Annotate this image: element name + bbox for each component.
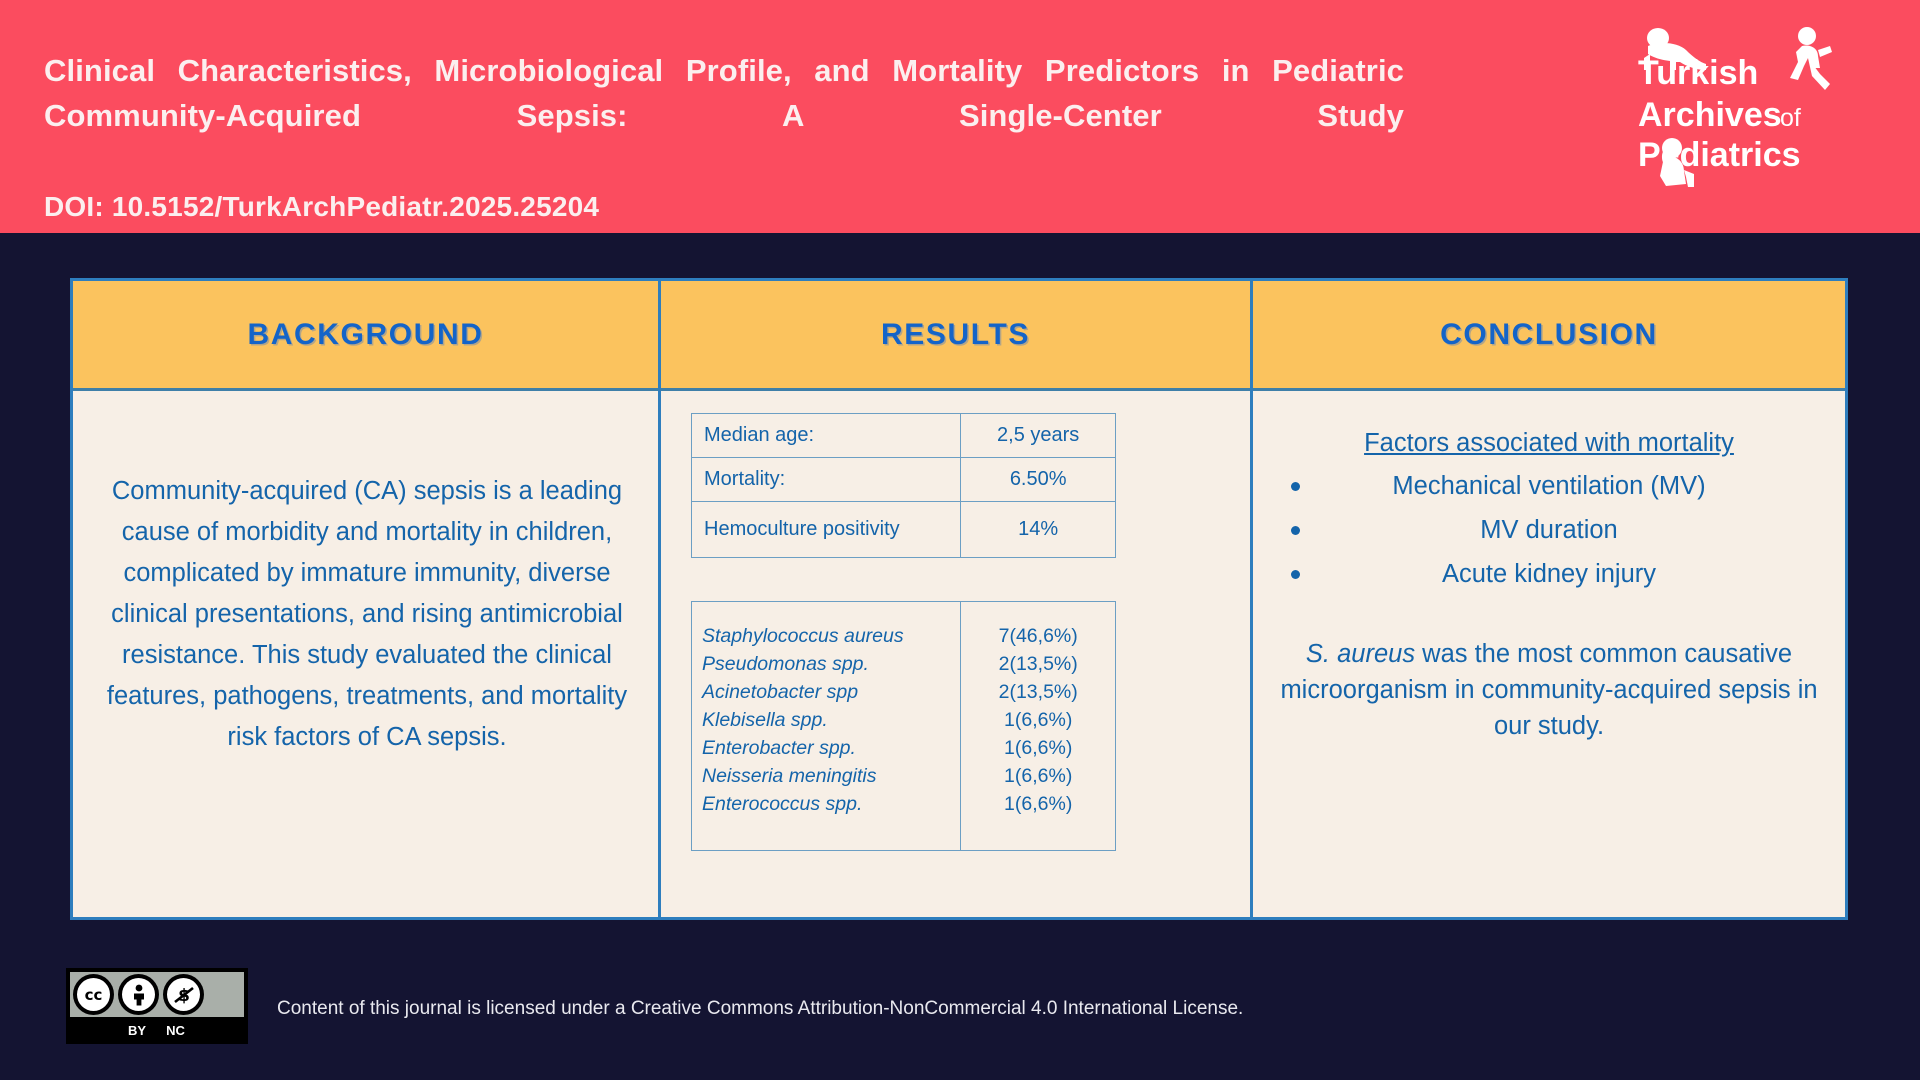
results-organisms-table: Staphylococcus aureus 7(46,6%) Pseudomon… xyxy=(691,601,1116,851)
mortality-factors-list: Mechanical ventilation (MV) MV duration … xyxy=(1263,464,1835,596)
column-body-results: Median age: 2,5 years Mortality: 6.50% H… xyxy=(661,391,1250,917)
organism-name: Acinetobacter spp xyxy=(692,678,961,706)
organism-value: 7(46,6%) xyxy=(961,602,1116,651)
bullet-icon xyxy=(1291,526,1300,535)
organism-name: Pseudomonas spp. xyxy=(692,650,961,678)
table-row: Acinetobacter spp 2(13,5%) xyxy=(692,678,1116,706)
nc-glyph: $ xyxy=(167,978,200,1011)
table-row: Hemoculture positivity 14% xyxy=(692,502,1116,558)
license-text: Content of this journal is licensed unde… xyxy=(277,998,1243,1020)
logo-line-2: Archives xyxy=(1638,96,1782,134)
table-row: Median age: 2,5 years xyxy=(692,414,1116,458)
column-header-conclusion: CONCLUSION xyxy=(1253,281,1845,391)
organism-value: 1(6,6%) xyxy=(961,706,1116,734)
conclusion-subheading: Factors associated with mortality xyxy=(1263,429,1835,458)
results-stats-table: Median age: 2,5 years Mortality: 6.50% H… xyxy=(691,413,1116,558)
column-header-label: RESULTS xyxy=(881,318,1030,352)
abstract-card: BACKGROUND Community-acquired (CA) sepsi… xyxy=(70,278,1848,920)
table-row: Klebisella spp. 1(6,6%) xyxy=(692,706,1116,734)
stat-value: 14% xyxy=(961,502,1116,558)
column-background: BACKGROUND Community-acquired (CA) sepsi… xyxy=(73,281,661,917)
factor-label: Acute kidney injury xyxy=(1442,560,1656,588)
page-header: Clinical Characteristics, Microbiologica… xyxy=(0,0,1920,233)
factor-label: MV duration xyxy=(1480,516,1618,544)
list-item: MV duration xyxy=(1263,508,1835,552)
column-body-background: Community-acquired (CA) sepsis is a lead… xyxy=(73,391,658,917)
organism-value: 1(6,6%) xyxy=(961,762,1116,790)
conclusion-organism-italic: S. aureus xyxy=(1306,640,1415,668)
stat-label: Mortality: xyxy=(692,458,961,502)
page-title: Clinical Characteristics, Microbiologica… xyxy=(44,48,1404,183)
organism-name: Neisseria meningitis xyxy=(692,762,961,790)
organism-name: Staphylococcus aureus xyxy=(692,602,961,651)
factor-label: Mechanical ventilation (MV) xyxy=(1392,472,1705,500)
cc-text: cc xyxy=(77,978,110,1011)
running-child-icon xyxy=(1790,27,1832,90)
stat-label: Median age: xyxy=(692,414,961,458)
list-item: Mechanical ventilation (MV) xyxy=(1263,464,1835,508)
nc-label: NC xyxy=(166,1023,185,1038)
organism-value: 2(13,5%) xyxy=(961,678,1116,706)
journal-logo: Turkish Archives of Pediatrics xyxy=(1624,24,1876,199)
creative-commons-badge: cc $ BY NC xyxy=(66,968,248,1044)
logo-line-1: Turkish xyxy=(1638,54,1758,92)
column-header-results: RESULTS xyxy=(661,281,1250,391)
bullet-icon xyxy=(1291,482,1300,491)
column-conclusion: CONCLUSION Factors associated with morta… xyxy=(1253,281,1845,917)
cc-logo-icon: cc xyxy=(73,974,114,1015)
person-glyph xyxy=(122,978,155,1011)
conclusion-paragraph: S. aureus was the most common causative … xyxy=(1263,636,1835,744)
column-header-label: BACKGROUND xyxy=(248,318,484,352)
by-label: BY xyxy=(128,1023,146,1038)
logo-line-2-suffix: of xyxy=(1780,104,1801,132)
table-row: Pseudomonas spp. 2(13,5%) xyxy=(692,650,1116,678)
table-row: Staphylococcus aureus 7(46,6%) xyxy=(692,602,1116,651)
table-row: Neisseria meningitis 1(6,6%) xyxy=(692,762,1116,790)
list-item: Acute kidney injury xyxy=(1263,552,1835,596)
stat-label: Hemoculture positivity xyxy=(692,502,961,558)
table-row: Enterobacter spp. 1(6,6%) xyxy=(692,734,1116,762)
column-body-conclusion: Factors associated with mortality Mechan… xyxy=(1253,391,1845,917)
organism-value: 1(6,6%) xyxy=(961,790,1116,851)
doi-text: DOI: 10.5152/TurkArchPediatr.2025.25204 xyxy=(44,191,599,223)
logo-line-3: Pediatrics xyxy=(1638,136,1801,174)
organism-name: Enterococcus spp. xyxy=(692,790,961,851)
stat-value: 6.50% xyxy=(961,458,1116,502)
cc-label-row: BY NC xyxy=(70,1017,244,1044)
column-results: RESULTS Median age: 2,5 years Mortality:… xyxy=(661,281,1253,917)
background-paragraph: Community-acquired (CA) sepsis is a lead… xyxy=(85,471,649,758)
crossed-dollar-icon: $ xyxy=(163,974,204,1015)
column-header-label: CONCLUSION xyxy=(1440,318,1658,352)
column-header-background: BACKGROUND xyxy=(73,281,658,391)
organism-value: 2(13,5%) xyxy=(961,650,1116,678)
cc-icon-row: cc $ xyxy=(70,972,244,1017)
stat-value: 2,5 years xyxy=(961,414,1116,458)
table-row: Enterococcus spp. 1(6,6%) xyxy=(692,790,1116,851)
organism-name: Enterobacter spp. xyxy=(692,734,961,762)
organism-value: 1(6,6%) xyxy=(961,734,1116,762)
organism-name: Klebisella spp. xyxy=(692,706,961,734)
bullet-icon xyxy=(1291,570,1300,579)
conclusion-content: Factors associated with mortality Mechan… xyxy=(1263,429,1835,744)
person-icon xyxy=(118,974,159,1015)
table-row: Mortality: 6.50% xyxy=(692,458,1116,502)
